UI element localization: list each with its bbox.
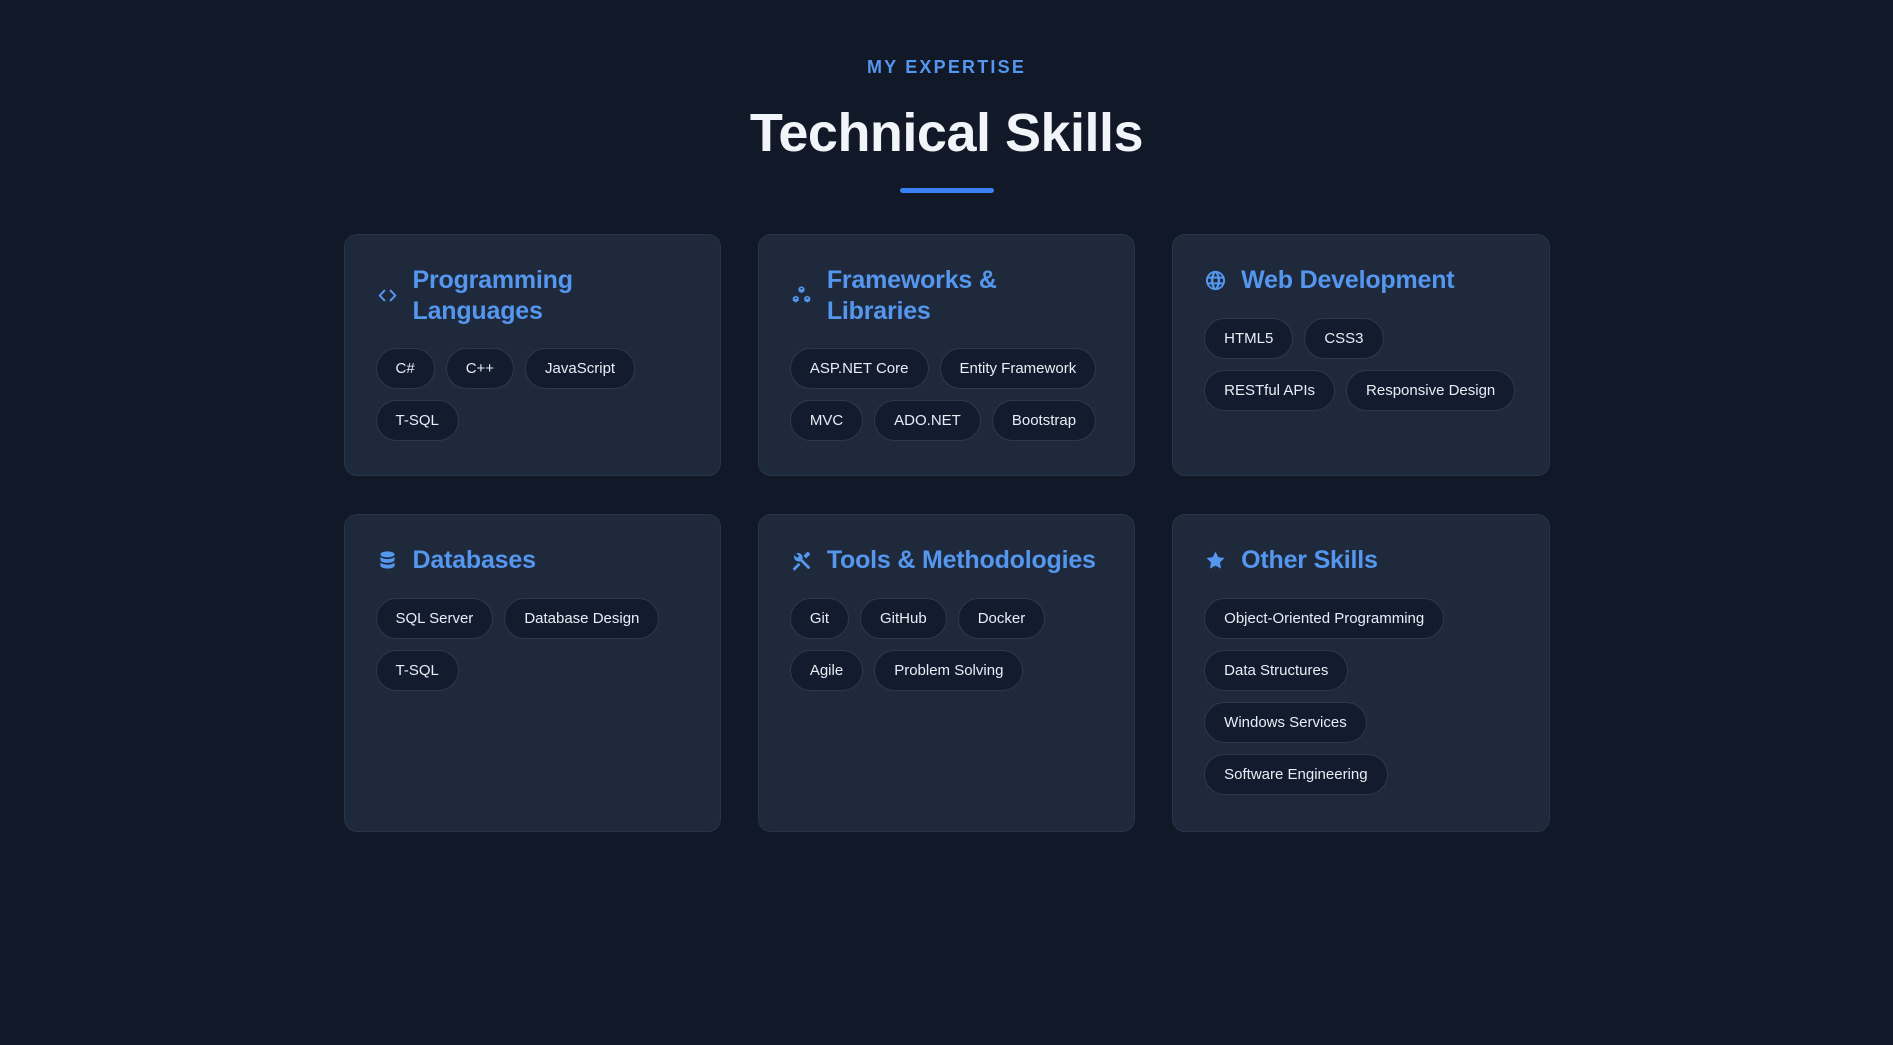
card-header: Programming Languages [376,265,689,326]
skill-tag-list: SQL ServerDatabase DesignT-SQL [376,598,689,691]
skill-tag[interactable]: T-SQL [376,400,459,441]
card-title: Frameworks & Libraries [827,265,1103,326]
card-title: Databases [413,545,536,576]
card-header: Tools & Methodologies [790,545,1103,576]
skill-tag[interactable]: HTML5 [1204,318,1293,359]
skill-tag[interactable]: ADO.NET [874,400,981,441]
card-title: Programming Languages [413,265,689,326]
skill-tag[interactable]: Docker [958,598,1046,639]
skill-tag-list: Object-Oriented ProgrammingData Structur… [1204,598,1517,795]
card-header: Other Skills [1204,545,1517,576]
skill-tag-list: HTML5CSS3RESTful APIsResponsive Design [1204,318,1517,411]
cubes-icon [790,284,813,307]
title-underline-divider [900,188,994,193]
card-header: Web Development [1204,265,1517,296]
code-icon [376,284,399,307]
skill-card-tools-methodologies: Tools & MethodologiesGitGitHubDockerAgil… [758,514,1135,832]
skills-grid: Programming LanguagesC#C++JavaScriptT-SQ… [344,234,1550,832]
page-title: Technical Skills [0,104,1893,162]
star-icon [1204,549,1227,572]
skill-tag-list: ASP.NET CoreEntity FrameworkMVCADO.NETBo… [790,348,1103,441]
skill-tag[interactable]: MVC [790,400,863,441]
database-icon [376,549,399,572]
skill-tag[interactable]: Agile [790,650,863,691]
skill-tag[interactable]: Windows Services [1204,702,1367,743]
skill-card-frameworks-libraries: Frameworks & LibrariesASP.NET CoreEntity… [758,234,1135,476]
skill-tag[interactable]: RESTful APIs [1204,370,1335,411]
skill-tag[interactable]: Entity Framework [940,348,1097,389]
globe-icon [1204,269,1227,292]
skill-tag[interactable]: C# [376,348,435,389]
skill-card-programming-languages: Programming LanguagesC#C++JavaScriptT-SQ… [344,234,721,476]
skill-tag[interactable]: Database Design [504,598,659,639]
skill-tag[interactable]: C++ [446,348,514,389]
skill-tag[interactable]: Responsive Design [1346,370,1515,411]
skill-tag[interactable]: JavaScript [525,348,635,389]
skill-tag[interactable]: Problem Solving [874,650,1023,691]
skill-tag[interactable]: Bootstrap [992,400,1096,441]
skill-tag[interactable]: GitHub [860,598,947,639]
card-title: Web Development [1241,265,1454,296]
skill-tag[interactable]: SQL Server [376,598,494,639]
skill-tag[interactable]: CSS3 [1304,318,1383,359]
skill-tag[interactable]: Git [790,598,849,639]
section-eyebrow: MY EXPERTISE [0,58,1893,76]
skill-tag[interactable]: T-SQL [376,650,459,691]
skill-tag[interactable]: ASP.NET Core [790,348,929,389]
card-title: Other Skills [1241,545,1378,576]
skill-tag[interactable]: Software Engineering [1204,754,1387,795]
card-title: Tools & Methodologies [827,545,1096,576]
tools-icon [790,549,813,572]
skill-card-databases: DatabasesSQL ServerDatabase DesignT-SQL [344,514,721,832]
card-header: Frameworks & Libraries [790,265,1103,326]
skills-page: MY EXPERTISE Technical Skills Programmin… [0,0,1893,1045]
page-header: MY EXPERTISE Technical Skills [0,58,1893,193]
skill-tag[interactable]: Object-Oriented Programming [1204,598,1444,639]
skill-card-web-development: Web DevelopmentHTML5CSS3RESTful APIsResp… [1172,234,1549,476]
skill-card-other-skills: Other SkillsObject-Oriented ProgrammingD… [1172,514,1549,832]
skill-tag-list: C#C++JavaScriptT-SQL [376,348,689,441]
skill-tag-list: GitGitHubDockerAgileProblem Solving [790,598,1103,691]
card-header: Databases [376,545,689,576]
skill-tag[interactable]: Data Structures [1204,650,1348,691]
